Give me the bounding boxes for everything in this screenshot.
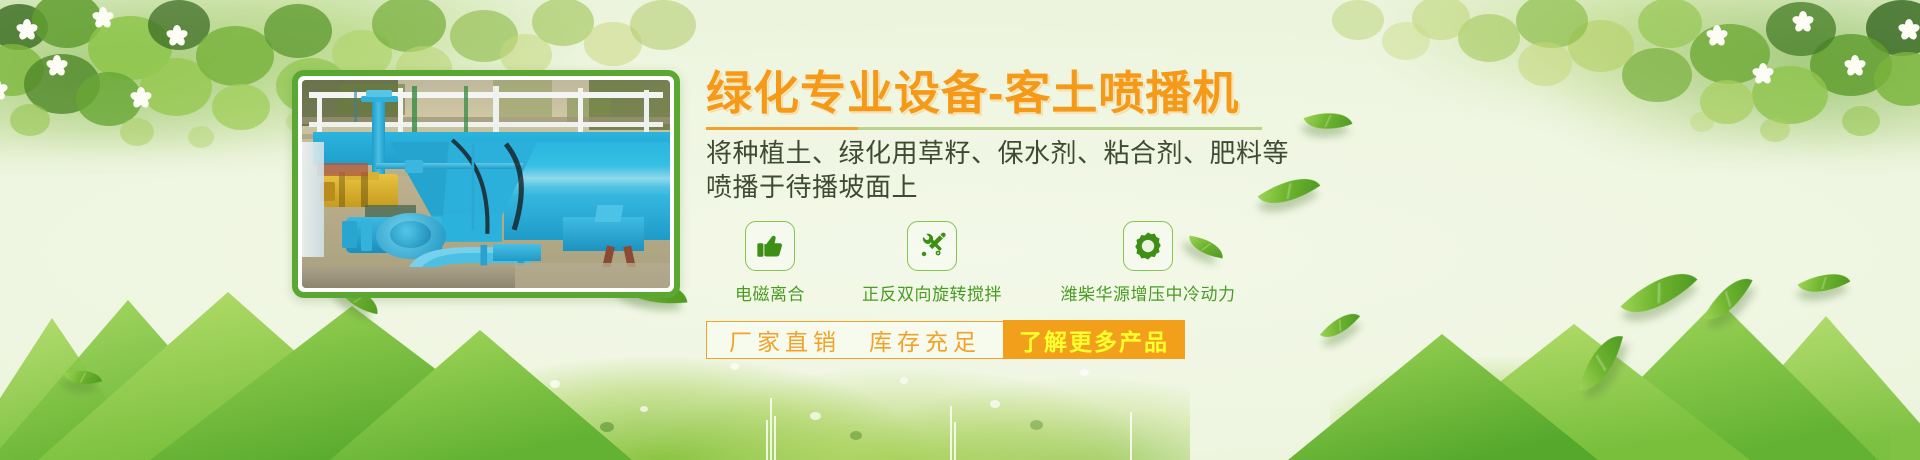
- feature-label: 电磁离合: [735, 280, 805, 305]
- promo-banner: 绿化专业设备-客土喷播机 将种植土、绿化用草籽、保水剂、粘合剂、肥料等 喷播于待…: [0, 0, 1920, 460]
- product-photo-frame: [292, 70, 680, 298]
- flower-icon: [0, 78, 8, 100]
- flower-icon: [92, 6, 114, 28]
- flower-icon: [46, 54, 68, 76]
- feature-label: 正反双向旋转搅拌: [862, 280, 1002, 305]
- feature-item-bidirectional-mixing: 正反双向旋转搅拌: [834, 221, 1030, 305]
- leaf-decoration: [1798, 262, 1851, 304]
- tools-icon: [907, 221, 957, 271]
- flower-icon: [1706, 24, 1728, 46]
- learn-more-button[interactable]: 了解更多产品: [1003, 320, 1185, 359]
- leaf-decoration: [1703, 268, 1752, 330]
- gear-icon: [1123, 221, 1173, 271]
- leaf-decoration: [1621, 255, 1698, 331]
- flower-icon: [1844, 54, 1866, 76]
- flower-icon: [130, 86, 152, 108]
- flower-icon: [1752, 62, 1774, 84]
- feature-item-electromagnetic-clutch: 电磁离合: [706, 221, 834, 305]
- cta-slogan: 厂家直销 库存充足: [707, 322, 1003, 358]
- feature-label: 潍柴华源增压中冷动力: [1061, 280, 1236, 305]
- product-photo: [302, 80, 670, 288]
- feature-item-weichai-power: 潍柴华源增压中冷动力: [1030, 221, 1266, 305]
- flower-icon: [16, 18, 38, 40]
- page-title: 绿化专业设备-客土喷播机: [706, 70, 1606, 118]
- subtitle-line-2: 喷播于待播坡面上: [706, 170, 1606, 205]
- leaf-decoration: [64, 363, 102, 392]
- thumbs-up-icon: [745, 221, 795, 271]
- subtitle-line-1: 将种植土、绿化用草籽、保水剂、粘合剂、肥料等: [706, 136, 1606, 171]
- title-underline: [706, 127, 1262, 130]
- banner-content: 绿化专业设备-客土喷播机 将种植土、绿化用草籽、保水剂、粘合剂、肥料等 喷播于待…: [706, 70, 1606, 359]
- cta-bar: 厂家直销 库存充足 了解更多产品: [706, 321, 1185, 359]
- flower-icon: [1898, 18, 1920, 40]
- flower-icon: [1792, 10, 1814, 32]
- flower-icon: [166, 24, 188, 46]
- banner-subtitle: 将种植土、绿化用草籽、保水剂、粘合剂、肥料等 喷播于待播坡面上: [706, 136, 1606, 205]
- feature-list: 电磁离合 正反双向旋转搅拌: [706, 221, 1606, 305]
